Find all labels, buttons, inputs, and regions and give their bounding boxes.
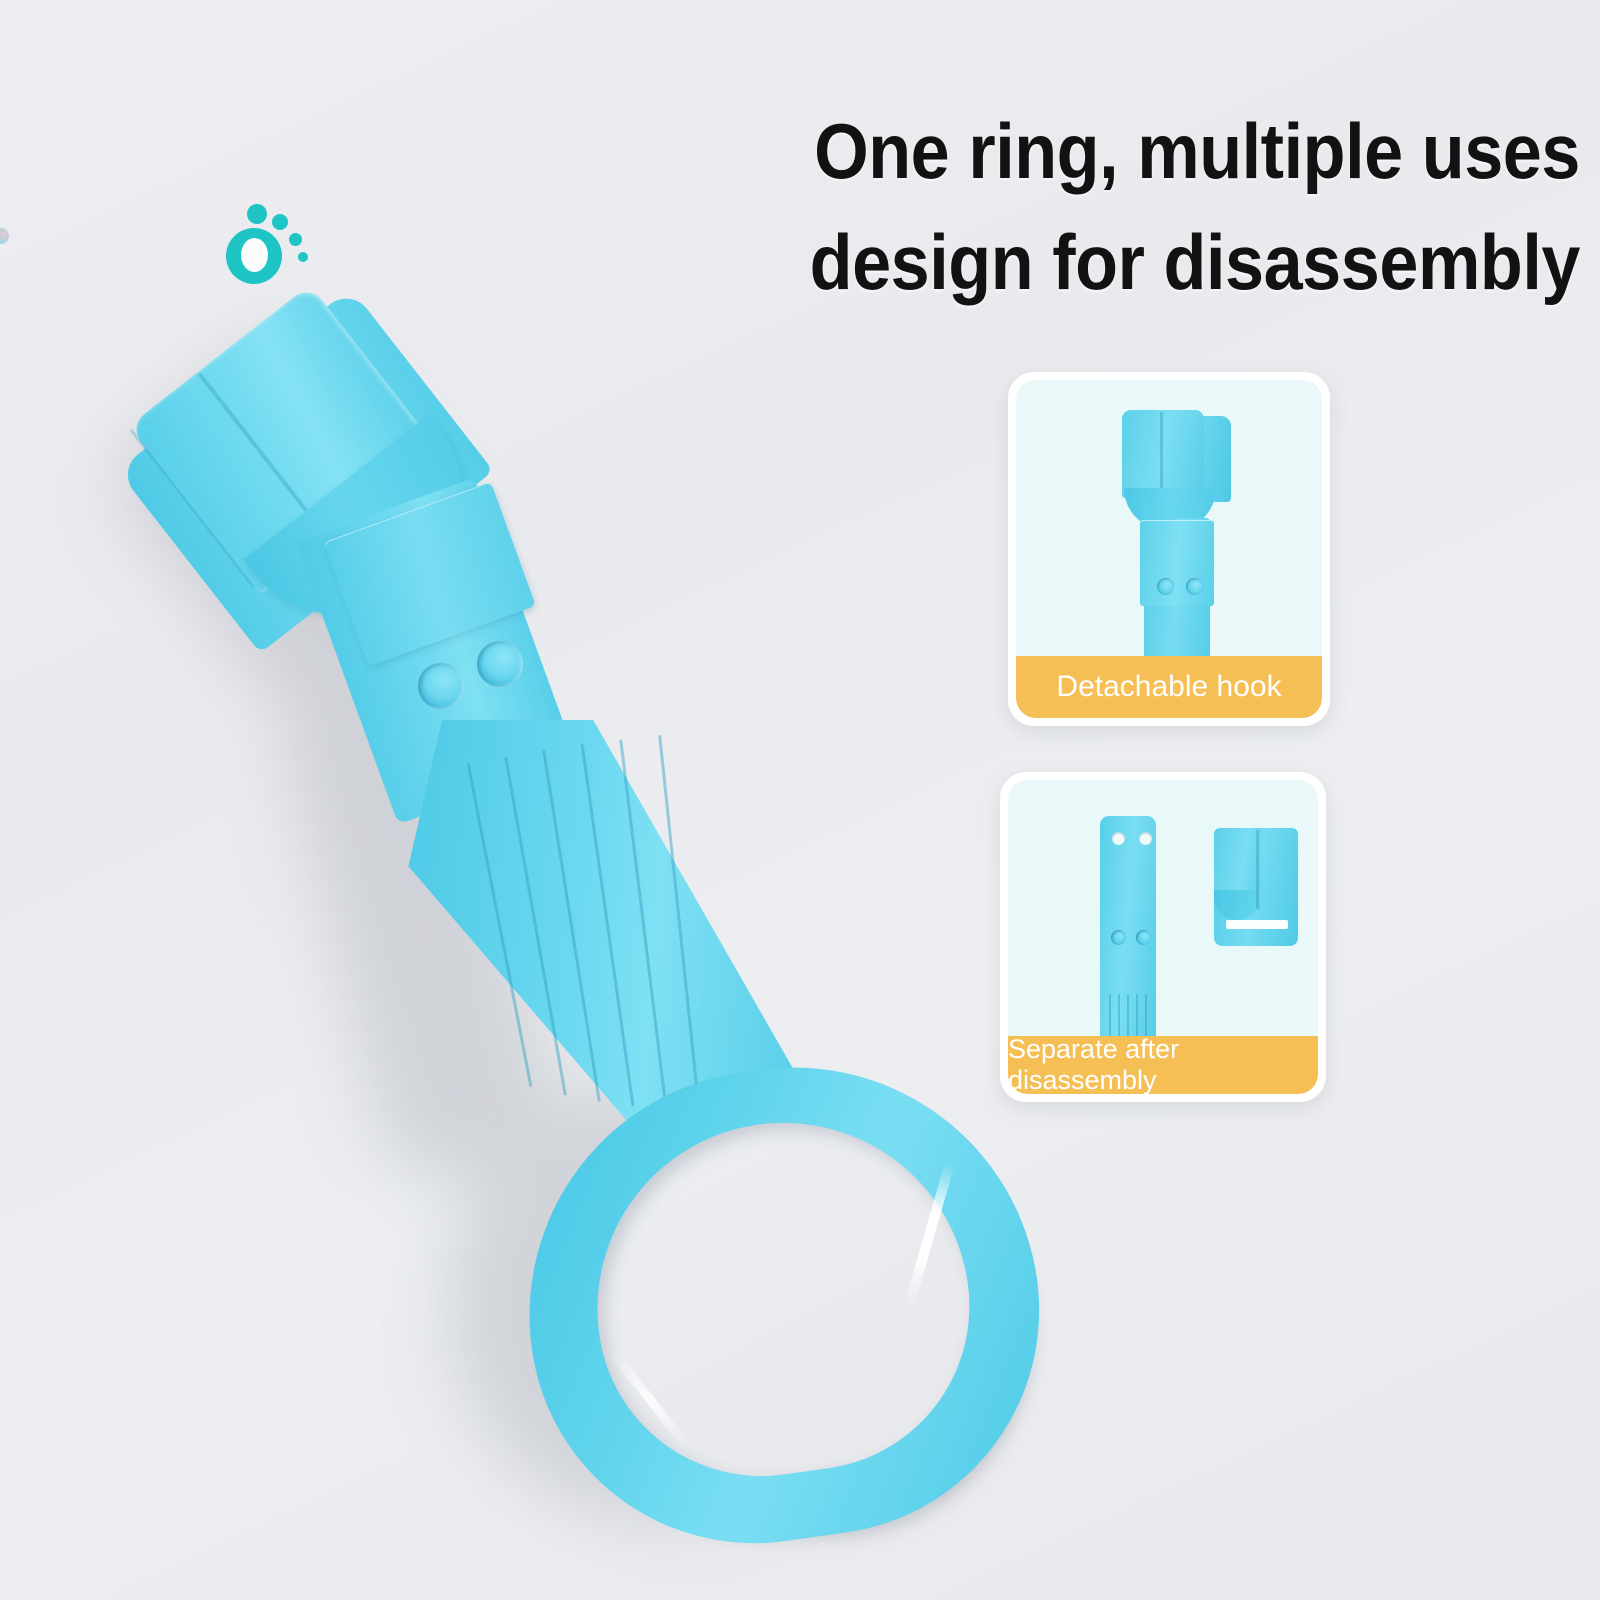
pull-ring: [520, 1065, 1060, 1565]
feature-card-separate-after-disassembly[interactable]: Separate after disassembly: [1000, 772, 1326, 1102]
card-2-caption: Separate after disassembly: [1008, 1036, 1318, 1094]
product-marketing-image: One ring, multiple uses design for disas…: [0, 0, 1600, 1600]
product-photo: [0, 0, 1100, 1600]
feature-card-detachable-hook[interactable]: Detachable hook: [1008, 372, 1330, 726]
card-1-caption: Detachable hook: [1016, 656, 1322, 718]
